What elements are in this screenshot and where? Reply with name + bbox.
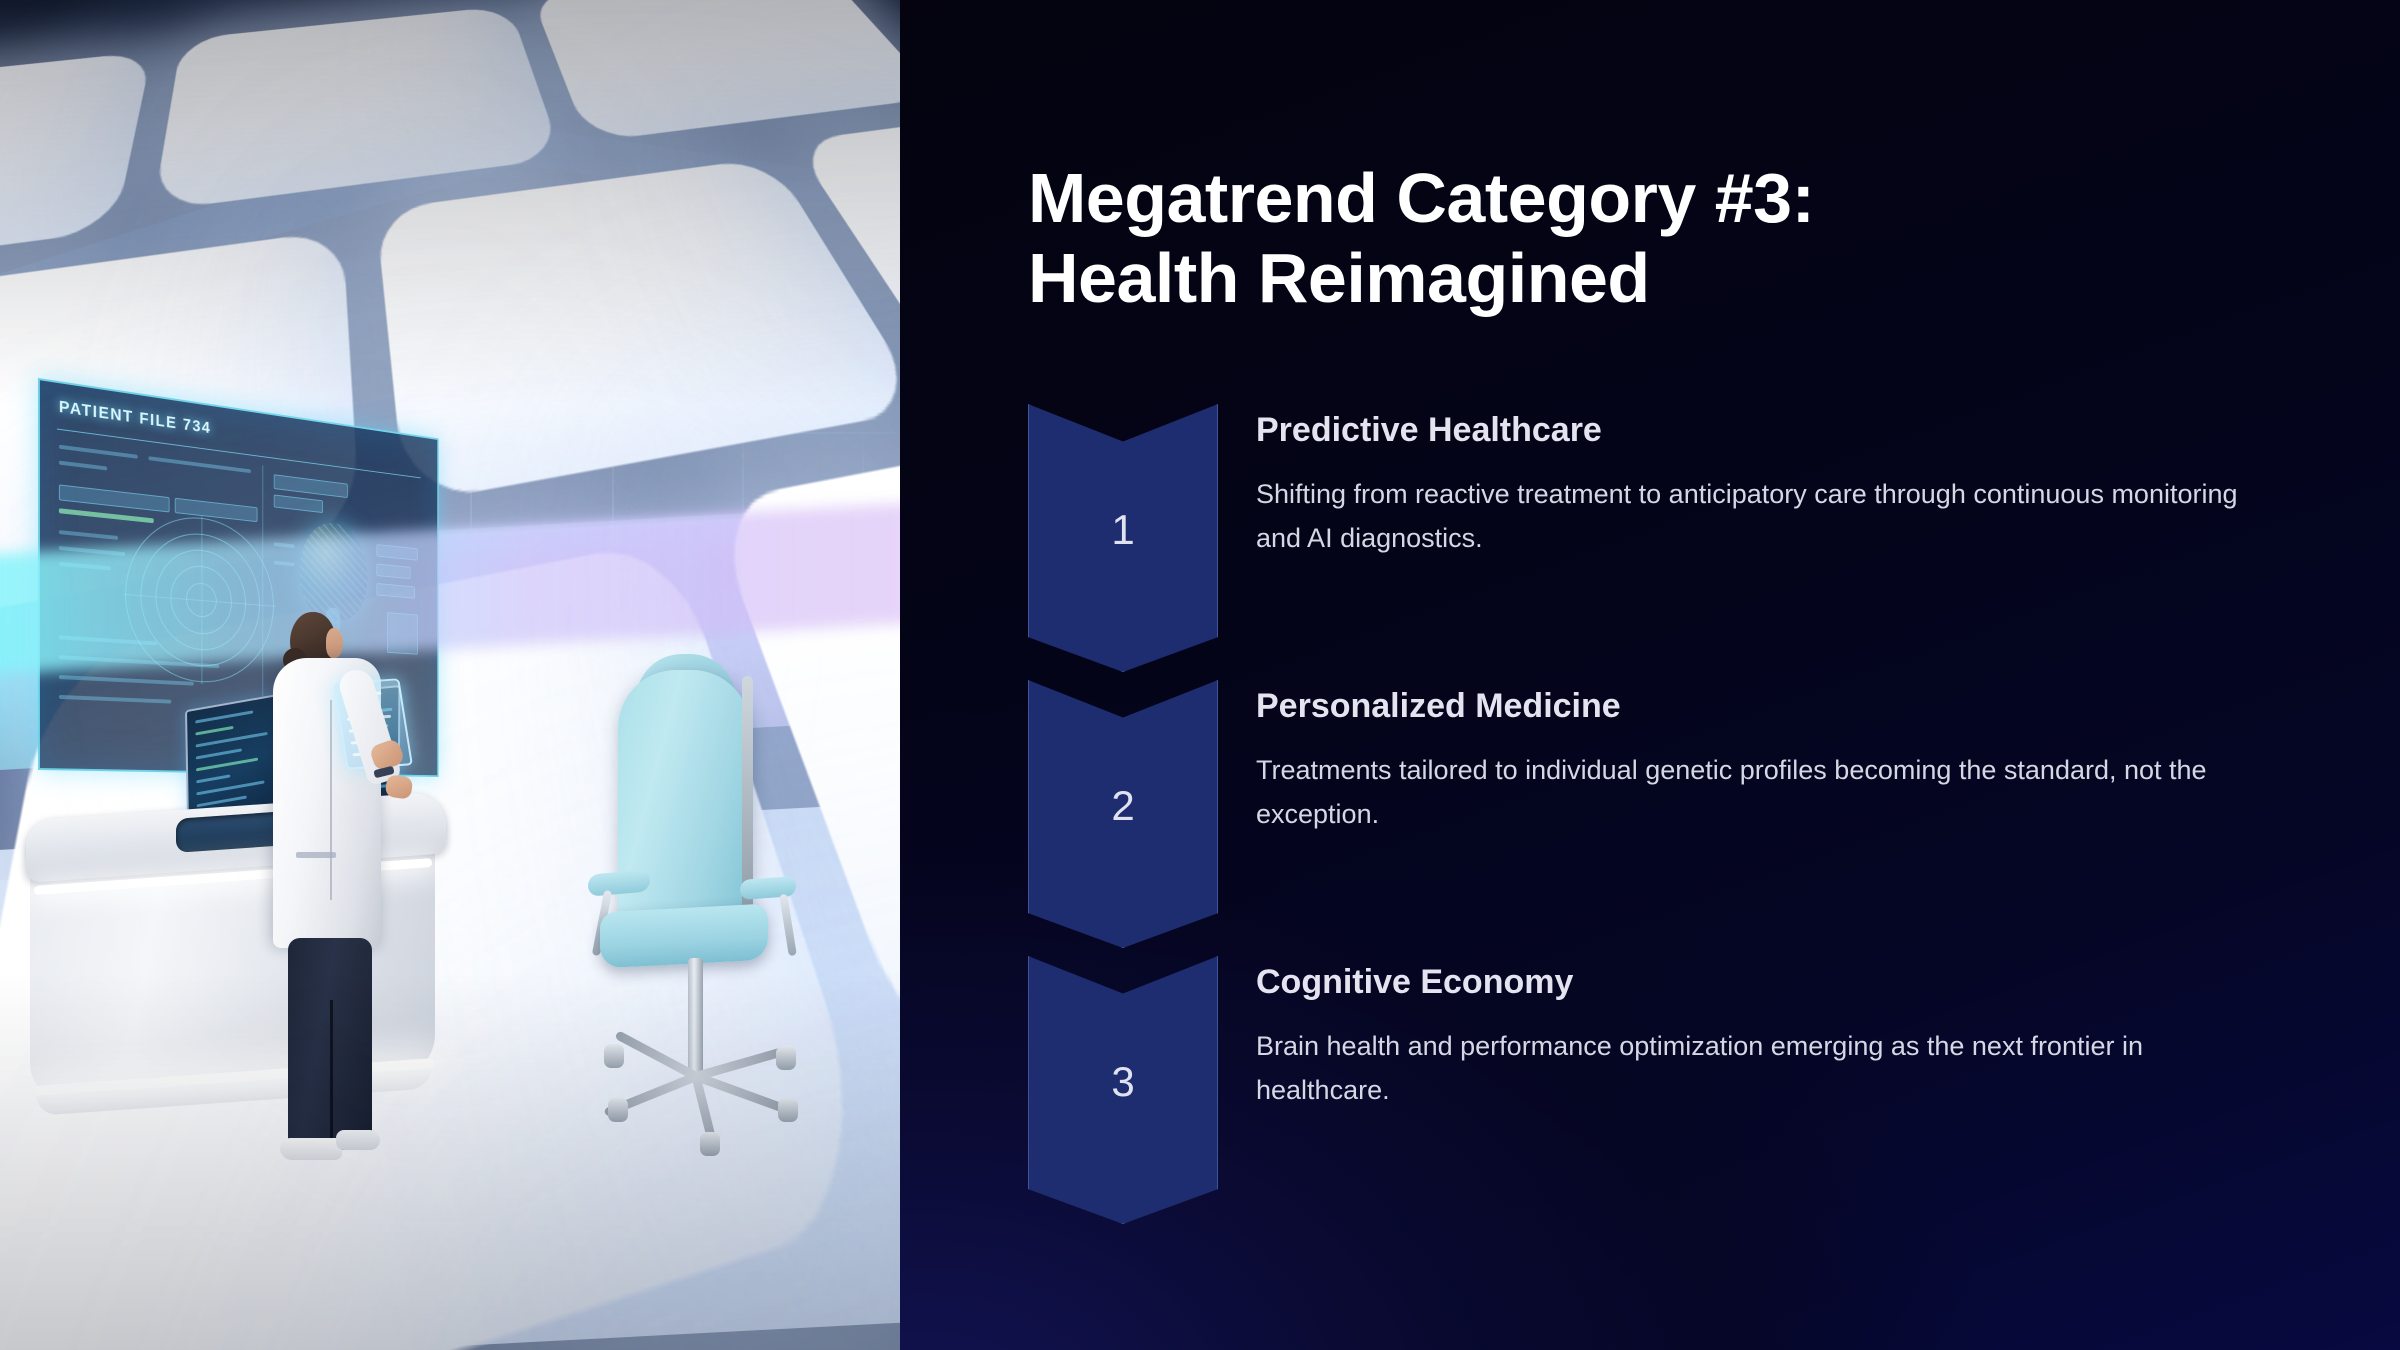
chevron-number-3: 3 [1028, 956, 1218, 1224]
list-item-description: Shifting from reactive treatment to anti… [1256, 473, 2266, 560]
list-item-text-3: Cognitive Economy Brain health and perfo… [1256, 962, 2316, 1112]
list-item-text-1: Predictive Healthcare Shifting from reac… [1256, 410, 2316, 560]
list-item-heading: Personalized Medicine [1256, 686, 2316, 727]
hologram-radar-scan [123, 507, 275, 687]
chevron-number-2: 2 [1028, 680, 1218, 948]
list-item-heading: Predictive Healthcare [1256, 410, 2316, 451]
trouser-leg-split [330, 1000, 333, 1150]
chair-caster [608, 1098, 628, 1122]
page-title-line-1: Megatrend Category #3: [1028, 159, 1814, 237]
doctor-shoe-right [336, 1130, 380, 1150]
page-title-line-2: Health Reimagined [1028, 239, 1650, 317]
list-item-description: Treatments tailored to individual geneti… [1256, 749, 2266, 836]
list-item-description: Brain health and performance optimizatio… [1256, 1025, 2266, 1112]
chair-caster [776, 1046, 796, 1070]
megatrend-list: 1 Predictive Healthcare Shifting from re… [1028, 404, 2348, 1190]
chair-caster [778, 1098, 798, 1122]
exam-chair-seat [600, 904, 768, 969]
doctor-face [326, 628, 343, 658]
chair-caster [700, 1132, 720, 1156]
presentation-slide: PATIENT FILE 734 [0, 0, 2400, 1350]
list-item[interactable]: 2 Personalized Medicine Treatments tailo… [1028, 680, 2348, 914]
lab-coat-fold [330, 700, 332, 900]
page-title: Megatrend Category #3: Health Reimagined [1028, 159, 2108, 319]
lab-coat-pocket [296, 852, 336, 858]
doctor-hand-lower [385, 774, 414, 799]
scene-image-panel: PATIENT FILE 734 [0, 0, 900, 1350]
list-item-text-2: Personalized Medicine Treatments tailore… [1256, 686, 2316, 836]
doctor-shoe-left [280, 1138, 342, 1160]
list-item-heading: Cognitive Economy [1256, 962, 2316, 1003]
chair-caster [604, 1044, 624, 1068]
content-panel: Megatrend Category #3: Health Reimagined… [900, 0, 2400, 1350]
chevron-number-1: 1 [1028, 404, 1218, 672]
list-item[interactable]: 3 Cognitive Economy Brain health and per… [1028, 956, 2348, 1190]
exam-chair-gas-lift [688, 958, 703, 1078]
list-item[interactable]: 1 Predictive Healthcare Shifting from re… [1028, 404, 2348, 638]
